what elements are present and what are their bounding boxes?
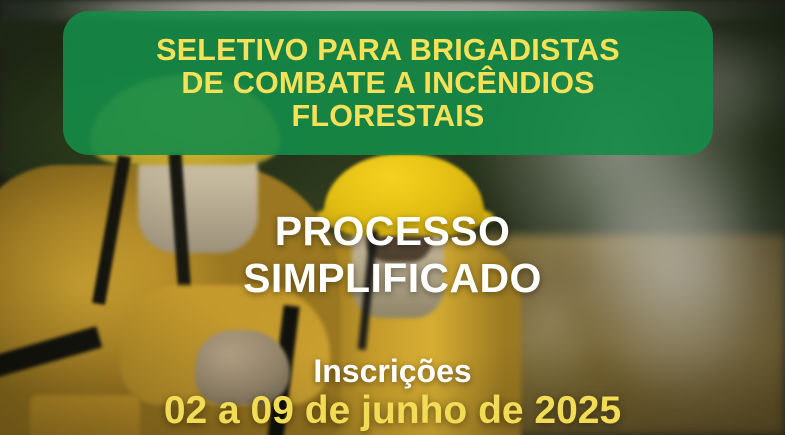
poster-canvas: SELETIVO PARA BRIGADISTAS DE COMBATE A I… [0,0,785,435]
headline-banner: SELETIVO PARA BRIGADISTAS DE COMBATE A I… [63,11,713,155]
registration-dates: 02 a 09 de junho de 2025 [0,389,785,433]
headline-line-1: PROCESSO [0,208,785,255]
headline-block: PROCESSO SIMPLIFICADO [0,208,785,302]
registration-label: Inscrições [0,353,785,389]
banner-title-line-1: SELETIVO PARA BRIGADISTAS [156,34,620,67]
registration-block: Inscrições 02 a 09 de junho de 2025 [0,353,785,433]
banner-title-line-2: DE COMBATE A INCÊNDIOS [181,67,594,100]
banner-title-line-3: FLORESTAIS [292,100,485,133]
headline-line-2: SIMPLIFICADO [0,255,785,302]
